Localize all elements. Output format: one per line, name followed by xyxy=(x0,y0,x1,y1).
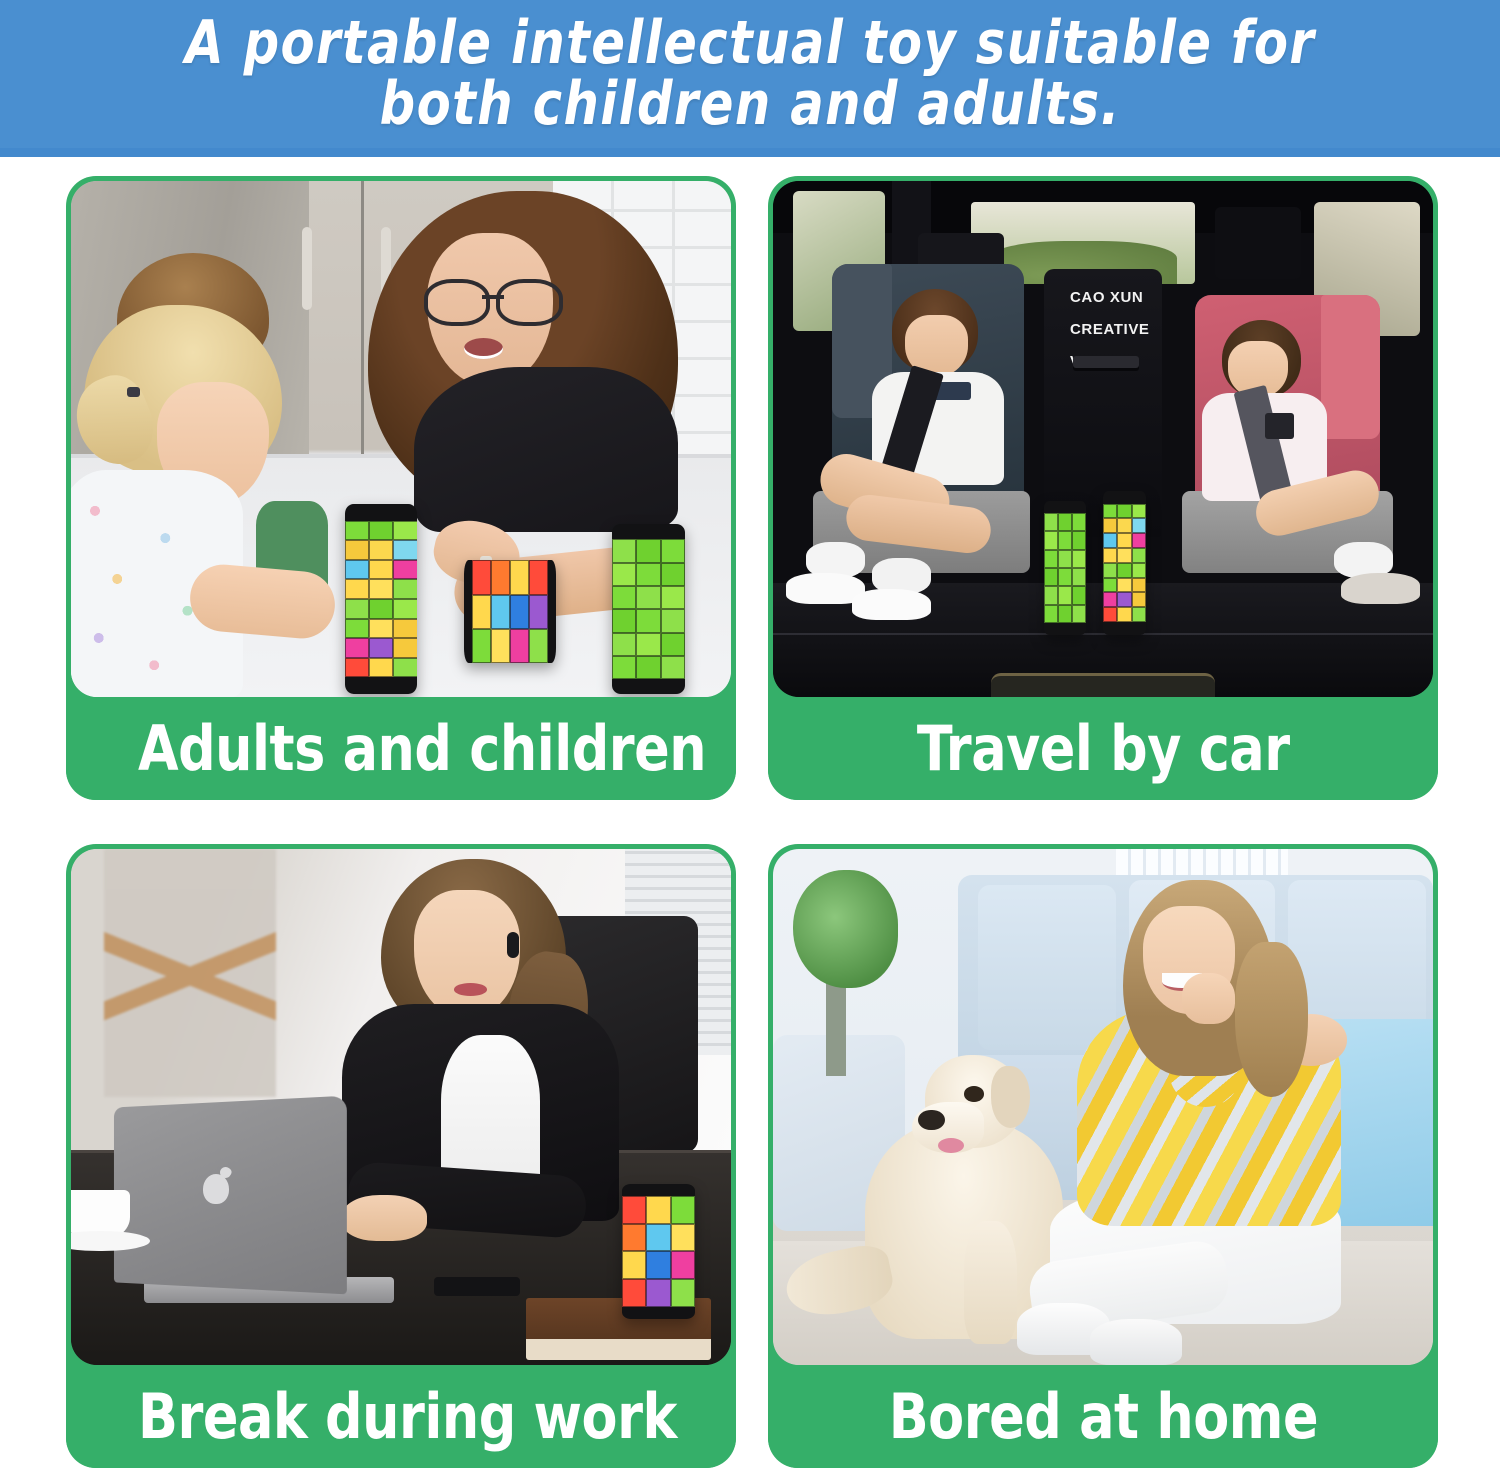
toy-cap-top xyxy=(1103,491,1146,504)
toy-block xyxy=(661,586,685,609)
toy-block-row xyxy=(622,1196,695,1224)
toy-block-row xyxy=(345,579,418,599)
toy-block xyxy=(1117,518,1131,533)
toy-block-row xyxy=(491,560,510,663)
toy-block xyxy=(369,521,393,541)
puzzle-toy-green-console xyxy=(1044,501,1087,635)
toy-block xyxy=(345,619,369,639)
toy-block xyxy=(646,1196,670,1224)
card-label-travel-by-car: Travel by car xyxy=(768,697,1438,800)
toy-block xyxy=(1103,578,1117,593)
toy-block-row xyxy=(1103,533,1146,548)
toy-block xyxy=(491,629,510,663)
toy-block xyxy=(510,560,529,594)
toy-block xyxy=(1072,513,1086,531)
use-case-card-bored-at-home[interactable]: Bored at home xyxy=(768,844,1438,1468)
dog-nose xyxy=(918,1110,944,1131)
toy-block xyxy=(529,595,548,629)
toy-block xyxy=(1103,592,1117,607)
toy-block xyxy=(1044,550,1058,568)
label-text: Bored at home xyxy=(888,1386,1317,1448)
toy-block xyxy=(510,595,529,629)
toy-block xyxy=(1117,578,1131,593)
use-case-grid: Adults and children CAO XUN CREATIVE VIS… xyxy=(66,176,1438,1468)
toy-block xyxy=(671,1224,695,1252)
header-title: A portable intellectual toy suitable for… xyxy=(130,13,1371,135)
toy-block xyxy=(671,1251,695,1279)
toy-block xyxy=(1072,550,1086,568)
girl-shoe xyxy=(1341,573,1420,604)
photo-travel-by-car: CAO XUN CREATIVE VISION xyxy=(773,181,1433,697)
toy-block xyxy=(393,638,417,658)
toy-block xyxy=(1044,568,1058,586)
puzzle-toy-on-desk xyxy=(622,1184,695,1318)
plant-stem xyxy=(826,973,846,1076)
toy-block xyxy=(345,638,369,658)
potted-plant xyxy=(793,870,899,989)
toy-block xyxy=(646,1279,670,1307)
toy-block xyxy=(393,521,417,541)
dog-leg xyxy=(964,1221,1017,1345)
toy-block xyxy=(1058,531,1072,549)
toy-block xyxy=(636,586,660,609)
toy-block-row xyxy=(1044,605,1087,623)
toy-block xyxy=(1058,586,1072,604)
glasses-lens-left xyxy=(424,279,490,326)
toy-block xyxy=(369,560,393,580)
hair-tie xyxy=(127,387,140,397)
toy-block xyxy=(1117,533,1131,548)
toy-block xyxy=(1044,586,1058,604)
toy-block xyxy=(661,563,685,586)
use-case-card-break-during-work[interactable]: Break during work xyxy=(66,844,736,1468)
toy-block xyxy=(1072,586,1086,604)
toy-cap-bottom xyxy=(612,679,685,694)
toy-block xyxy=(393,540,417,560)
apple-logo-icon xyxy=(203,1174,229,1204)
toy-block xyxy=(1132,607,1146,622)
toy-block xyxy=(661,609,685,632)
toy-block-row xyxy=(622,1279,695,1307)
toy-block xyxy=(661,633,685,656)
toy-block xyxy=(393,560,417,580)
use-case-card-travel-by-car[interactable]: CAO XUN CREATIVE VISION xyxy=(768,176,1438,800)
woman-hair-strand xyxy=(1235,942,1308,1097)
toy-cap-bottom xyxy=(1044,623,1087,635)
toy-block-row xyxy=(1044,513,1087,531)
toy-block-row xyxy=(1103,578,1146,593)
toy-block xyxy=(1072,605,1086,623)
toy-block xyxy=(1058,550,1072,568)
toy-block xyxy=(1103,563,1117,578)
toy-block-row xyxy=(612,633,685,656)
toy-block xyxy=(1132,533,1146,548)
toy-block-row xyxy=(1044,586,1087,604)
puzzle-toy-lying-down xyxy=(464,560,556,663)
toy-block-row xyxy=(1103,504,1146,519)
toy-block xyxy=(622,1251,646,1279)
toy-cap-bottom xyxy=(548,560,556,663)
photo-bored-at-home xyxy=(773,849,1433,1365)
toy-cap-top xyxy=(1044,501,1087,513)
toy-block xyxy=(510,629,529,663)
headrest-right xyxy=(1215,207,1301,279)
woman-lips xyxy=(454,983,487,995)
toy-block xyxy=(1117,504,1131,519)
toy-block-row xyxy=(510,560,529,663)
toy-block xyxy=(491,595,510,629)
card-label-adults-and-children: Adults and children xyxy=(66,697,736,800)
toy-block xyxy=(1103,548,1117,563)
toy-block xyxy=(612,656,636,679)
laptop-lid xyxy=(114,1096,346,1294)
bench-seam xyxy=(773,633,1433,635)
toy-block xyxy=(1058,568,1072,586)
toy-block-row xyxy=(622,1224,695,1252)
toy-block-row xyxy=(1103,518,1146,533)
toy-cap-top xyxy=(612,524,685,539)
photo-adults-and-children xyxy=(71,181,731,697)
toy-block-row xyxy=(612,539,685,562)
toy-block xyxy=(612,586,636,609)
toy-block-row xyxy=(345,540,418,560)
use-case-card-adults-and-children[interactable]: Adults and children xyxy=(66,176,736,800)
toy-block xyxy=(622,1224,646,1252)
toy-block-row xyxy=(345,619,418,639)
toy-block xyxy=(393,579,417,599)
toy-block-row xyxy=(1103,563,1146,578)
toy-block-row xyxy=(622,1251,695,1279)
toy-block xyxy=(529,560,548,594)
card-label-break-during-work: Break during work xyxy=(66,1365,736,1468)
toy-block xyxy=(369,638,393,658)
boy-shoe-2 xyxy=(852,589,931,620)
card-label-bored-at-home: Bored at home xyxy=(768,1365,1438,1468)
toy-block xyxy=(612,539,636,562)
woman-hand-typing xyxy=(342,1195,428,1241)
toy-block xyxy=(622,1196,646,1224)
woman-black-top xyxy=(414,367,678,532)
toy-block-row xyxy=(345,521,418,541)
toy-block xyxy=(369,619,393,639)
dog-ear xyxy=(991,1066,1031,1128)
toy-block xyxy=(1044,605,1058,623)
watermark-line-2: CREATIVE xyxy=(1070,314,1176,346)
seat-belt-clip xyxy=(1265,413,1295,439)
toy-cap-top xyxy=(345,504,418,521)
toy-block xyxy=(472,629,491,663)
toy-cap-top xyxy=(464,560,472,663)
toy-block xyxy=(345,579,369,599)
toy-block xyxy=(1132,578,1146,593)
toy-block xyxy=(636,539,660,562)
toy-block xyxy=(622,1279,646,1307)
label-text: Break during work xyxy=(138,1386,677,1448)
toy-block xyxy=(1132,518,1146,533)
woman-mouth xyxy=(464,338,504,359)
toy-block-row xyxy=(345,599,418,619)
toy-cap-bottom xyxy=(622,1307,695,1319)
toy-block xyxy=(1103,518,1117,533)
toy-block xyxy=(345,521,369,541)
glasses-lens-right xyxy=(496,279,562,326)
toy-block xyxy=(1117,563,1131,578)
toy-block-row xyxy=(345,638,418,658)
toy-block xyxy=(345,599,369,619)
toy-block xyxy=(393,599,417,619)
toy-block xyxy=(661,539,685,562)
toy-block xyxy=(491,560,510,594)
toy-block xyxy=(1117,548,1131,563)
woman-sneaker-2 xyxy=(1090,1319,1182,1365)
toy-block xyxy=(612,609,636,632)
toy-block-row xyxy=(612,609,685,632)
toy-block-row xyxy=(1103,592,1146,607)
toy-block xyxy=(1103,504,1117,519)
toy-block xyxy=(472,560,491,594)
eyeglasses-icon xyxy=(424,279,563,318)
toy-block xyxy=(646,1251,670,1279)
toy-block xyxy=(472,595,491,629)
child-car-seat-right-wing xyxy=(1321,295,1380,439)
toy-block xyxy=(1103,533,1117,548)
header-stripe xyxy=(0,148,1500,157)
puzzle-toy-rainbow-console xyxy=(1103,491,1146,635)
toy-block-row xyxy=(612,563,685,586)
toy-block xyxy=(1132,548,1146,563)
label-text: Travel by car xyxy=(917,718,1290,780)
toy-block xyxy=(1117,592,1131,607)
toy-block xyxy=(1117,607,1131,622)
toy-block xyxy=(1132,592,1146,607)
toy-block-row xyxy=(1044,568,1087,586)
toy-block-row xyxy=(345,658,418,678)
puzzle-toy-green-right xyxy=(612,524,685,694)
toy-block-row xyxy=(1103,607,1146,622)
toy-cap-top xyxy=(622,1184,695,1196)
toy-block-row xyxy=(612,586,685,609)
toy-block xyxy=(1132,563,1146,578)
toy-block xyxy=(1132,504,1146,519)
toy-block xyxy=(529,629,548,663)
wall-art xyxy=(104,849,276,1097)
toy-block xyxy=(646,1224,670,1252)
toy-block xyxy=(345,540,369,560)
watermark-line-1: CAO XUN xyxy=(1070,282,1176,314)
toy-block-row xyxy=(472,560,491,663)
toy-block xyxy=(612,563,636,586)
toy-block xyxy=(1072,531,1086,549)
toy-block xyxy=(612,633,636,656)
wireless-earbud xyxy=(507,932,519,958)
toy-block xyxy=(671,1196,695,1224)
toy-block xyxy=(369,599,393,619)
toy-block-row xyxy=(612,656,685,679)
toy-block-row xyxy=(529,560,548,663)
toy-block xyxy=(1103,607,1117,622)
cup-holder-slot xyxy=(1073,356,1139,367)
toy-block xyxy=(1058,513,1072,531)
refrigerator-seam xyxy=(361,181,364,501)
toy-block xyxy=(1058,605,1072,623)
smartphone xyxy=(434,1277,520,1296)
toy-block xyxy=(393,619,417,639)
toy-block xyxy=(393,658,417,678)
dog-eye xyxy=(964,1086,984,1101)
toy-block xyxy=(369,658,393,678)
toy-block xyxy=(661,656,685,679)
toy-block xyxy=(1072,568,1086,586)
toy-block-row xyxy=(1044,550,1087,568)
toy-cap-bottom xyxy=(1103,622,1146,635)
toy-block-row xyxy=(345,560,418,580)
sofa-cushion-1 xyxy=(978,885,1117,1050)
toy-block xyxy=(1044,513,1058,531)
photo-break-during-work xyxy=(71,849,731,1365)
header-banner: A portable intellectual toy suitable for… xyxy=(0,0,1500,148)
center-console-front xyxy=(991,673,1215,697)
refrigerator-handle-left xyxy=(302,227,312,310)
woman-hand-on-chin xyxy=(1182,973,1235,1025)
toy-block xyxy=(636,633,660,656)
toy-block xyxy=(671,1279,695,1307)
toy-block xyxy=(345,560,369,580)
toy-block xyxy=(1044,531,1058,549)
toy-block-row xyxy=(1103,548,1146,563)
toy-block xyxy=(345,658,369,678)
puzzle-toy-tall-left xyxy=(345,504,418,695)
toy-block xyxy=(636,656,660,679)
toy-block xyxy=(369,579,393,599)
book-pages xyxy=(526,1339,711,1360)
toy-block xyxy=(636,609,660,632)
toy-cap-bottom xyxy=(345,677,418,694)
toy-block-row xyxy=(1044,531,1087,549)
toy-block xyxy=(369,540,393,560)
toy-block xyxy=(636,563,660,586)
label-text: Adults and children xyxy=(138,718,706,780)
glasses-bridge xyxy=(482,295,504,299)
